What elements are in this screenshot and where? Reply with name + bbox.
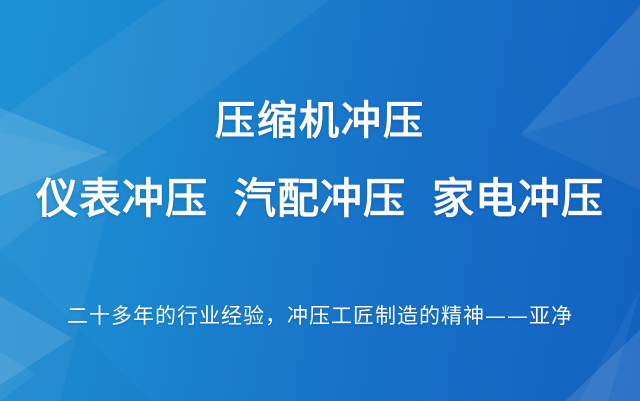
headline-secondary-part-2: 家电冲压 xyxy=(432,176,604,222)
headline-secondary: 仪表冲压汽配冲压家电冲压 xyxy=(0,176,640,222)
headline-secondary-part-1: 汽配冲压 xyxy=(234,176,406,222)
headline-primary: 压缩机冲压 xyxy=(0,99,640,143)
banner-content: 压缩机冲压 仪表冲压汽配冲压家电冲压 二十多年的行业经验，冲压工匠制造的精神——… xyxy=(0,0,640,401)
headline-secondary-part-0: 仪表冲压 xyxy=(36,176,208,222)
tagline: 二十多年的行业经验，冲压工匠制造的精神——亚净 xyxy=(0,303,640,330)
promo-banner: 压缩机冲压 仪表冲压汽配冲压家电冲压 二十多年的行业经验，冲压工匠制造的精神——… xyxy=(0,0,640,401)
